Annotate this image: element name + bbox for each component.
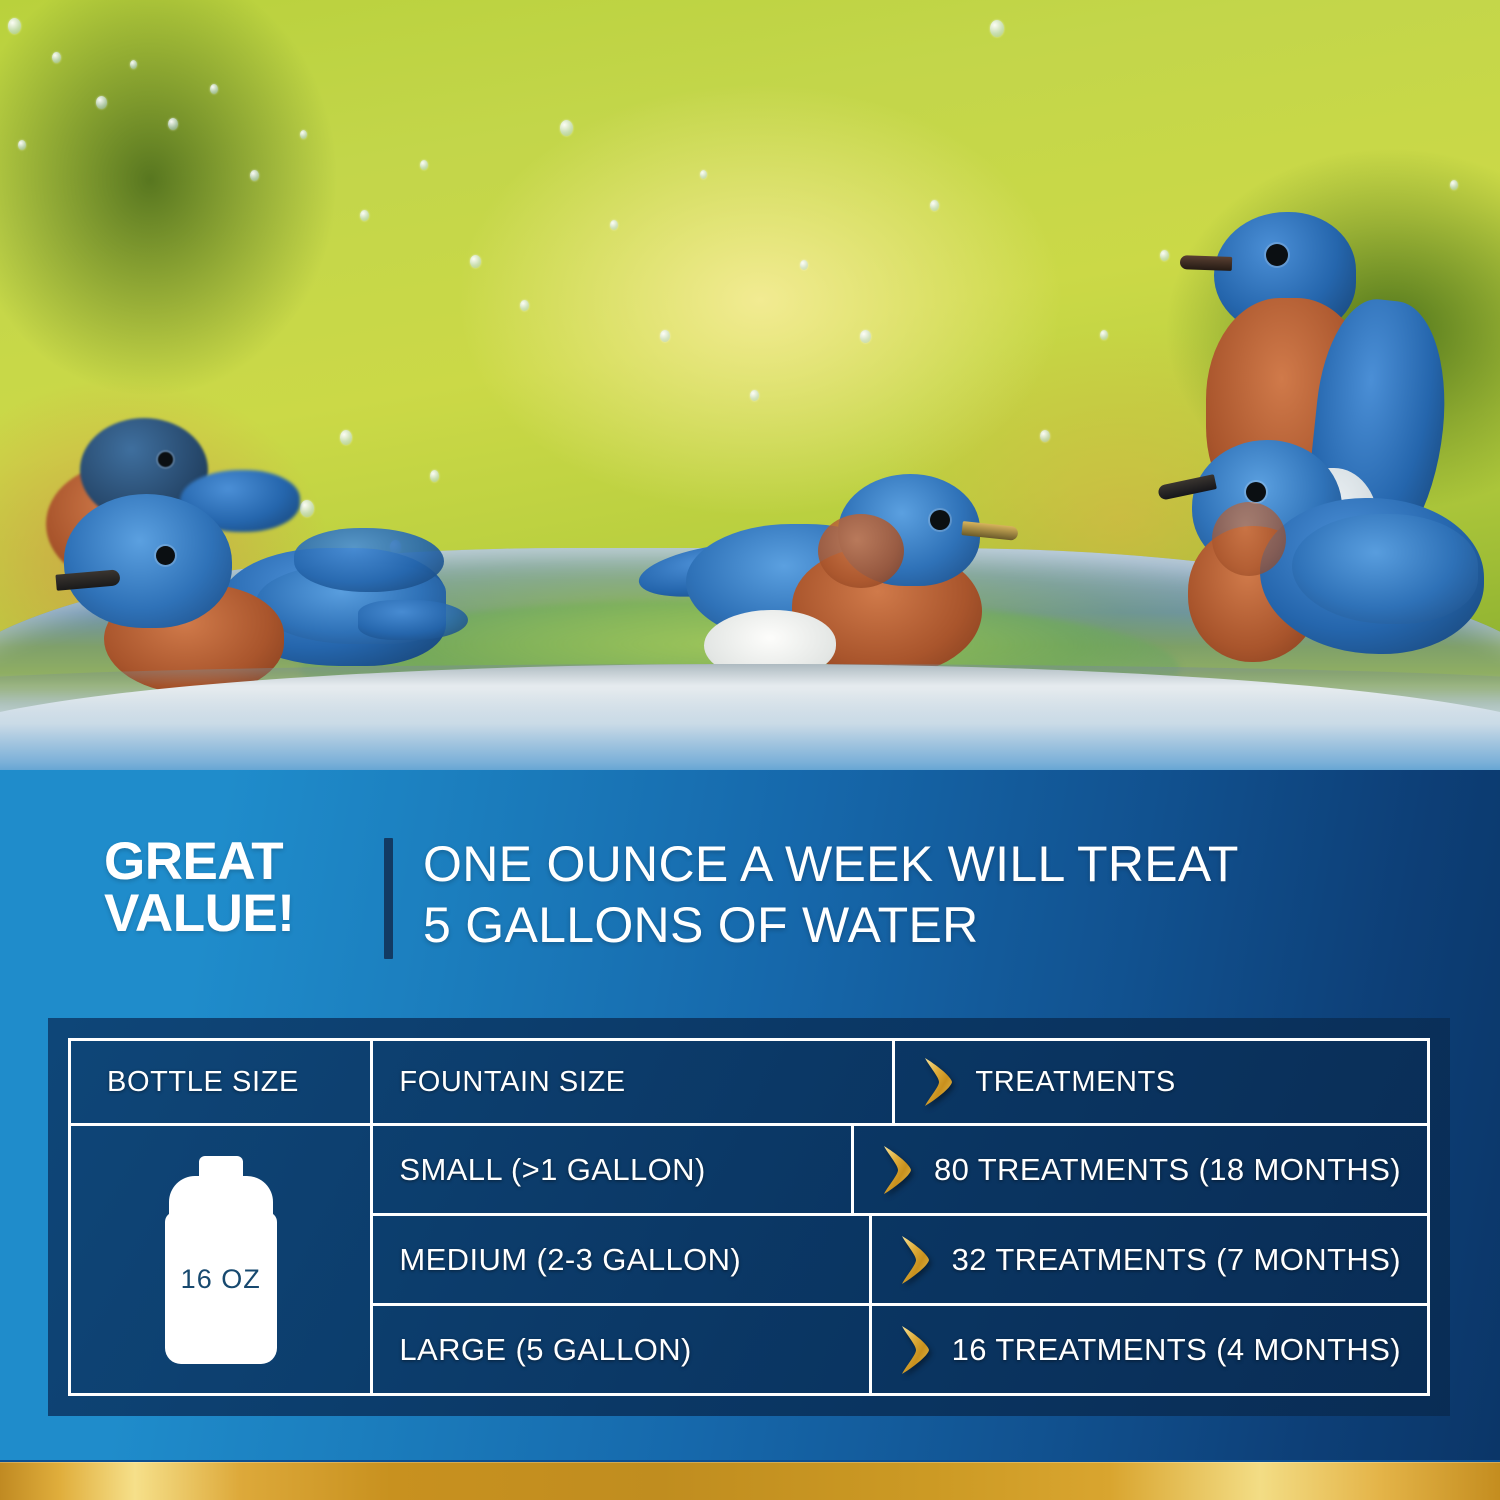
treatments-value: 16 TREATMENTS (4 MONTHS) <box>952 1332 1401 1368</box>
great-value-line1: GREAT <box>104 836 366 888</box>
table-row: MEDIUM (2-3 GALLON) 32 TREATMENTS (7 MON… <box>373 1213 1427 1303</box>
cell-treatments-medium: 32 TREATMENTS (7 MONTHS) <box>872 1216 1427 1303</box>
hero-photo-bluebirds <box>0 0 1500 770</box>
great-value-line2: VALUE! <box>104 888 366 940</box>
tagline-line2: 5 GALLONS OF WATER <box>423 895 1239 956</box>
cell-treatments-large: 16 TREATMENTS (4 MONTHS) <box>872 1306 1427 1393</box>
tagline-line1: ONE OUNCE A WEEK WILL TREAT <box>423 834 1239 895</box>
treatments-table: BOTTLE SIZE FOUNTAIN SIZE TREATMENTS <box>68 1038 1430 1396</box>
gold-chevron-icon <box>921 1056 955 1108</box>
gold-chevron-icon <box>880 1144 914 1196</box>
treatments-value: 32 TREATMENTS (7 MONTHS) <box>952 1242 1401 1278</box>
header-fountain-size: FOUNTAIN SIZE <box>373 1041 895 1123</box>
table-row: SMALL (>1 GALLON) 80 TREATMENTS (18 MONT… <box>373 1126 1427 1213</box>
bluebird-right-front <box>1142 414 1492 674</box>
photo-to-panel-fade <box>0 690 1500 770</box>
table-rows: SMALL (>1 GALLON) 80 TREATMENTS (18 MONT… <box>373 1126 1427 1393</box>
tagline: ONE OUNCE A WEEK WILL TREAT 5 GALLONS OF… <box>423 830 1239 956</box>
cell-treatments-small: 80 TREATMENTS (18 MONTHS) <box>854 1126 1427 1213</box>
header-treatments-label: TREATMENTS <box>975 1066 1175 1099</box>
gold-chevron-icon <box>898 1324 932 1376</box>
cell-fountain-small: SMALL (>1 GALLON) <box>373 1126 854 1213</box>
headline-row: GREAT VALUE! ONE OUNCE A WEEK WILL TREAT… <box>104 830 1239 959</box>
great-value-badge: GREAT VALUE! <box>104 830 366 941</box>
table-header-row: BOTTLE SIZE FOUNTAIN SIZE TREATMENTS <box>71 1041 1427 1126</box>
bottle-size-cell: 16 OZ <box>71 1126 373 1393</box>
bottle-size-label: 16 OZ <box>161 1264 281 1295</box>
treatments-value: 80 TREATMENTS (18 MONTHS) <box>934 1152 1401 1188</box>
bottle-icon: 16 OZ <box>161 1156 281 1364</box>
headline-divider <box>384 838 393 959</box>
promo-image-root: GREAT VALUE! ONE OUNCE A WEEK WILL TREAT… <box>0 0 1500 1500</box>
cell-fountain-large: LARGE (5 GALLON) <box>373 1306 871 1393</box>
cell-fountain-medium: MEDIUM (2-3 GALLON) <box>373 1216 871 1303</box>
table-body: 16 OZ SMALL (>1 GALLON) 80 TREATMENTS (1… <box>71 1126 1427 1393</box>
table-row: LARGE (5 GALLON) 16 TREATMENTS (4 MONTHS… <box>373 1303 1427 1393</box>
header-treatments-cell: TREATMENTS <box>895 1041 1427 1123</box>
bluebird-front-left <box>46 468 446 698</box>
gold-chevron-icon <box>898 1234 932 1286</box>
bluebird-center <box>622 460 1022 690</box>
gold-footer-bar <box>0 1462 1500 1500</box>
treatments-table-panel: BOTTLE SIZE FOUNTAIN SIZE TREATMENTS <box>48 1018 1450 1416</box>
header-bottle-size: BOTTLE SIZE <box>71 1041 373 1123</box>
